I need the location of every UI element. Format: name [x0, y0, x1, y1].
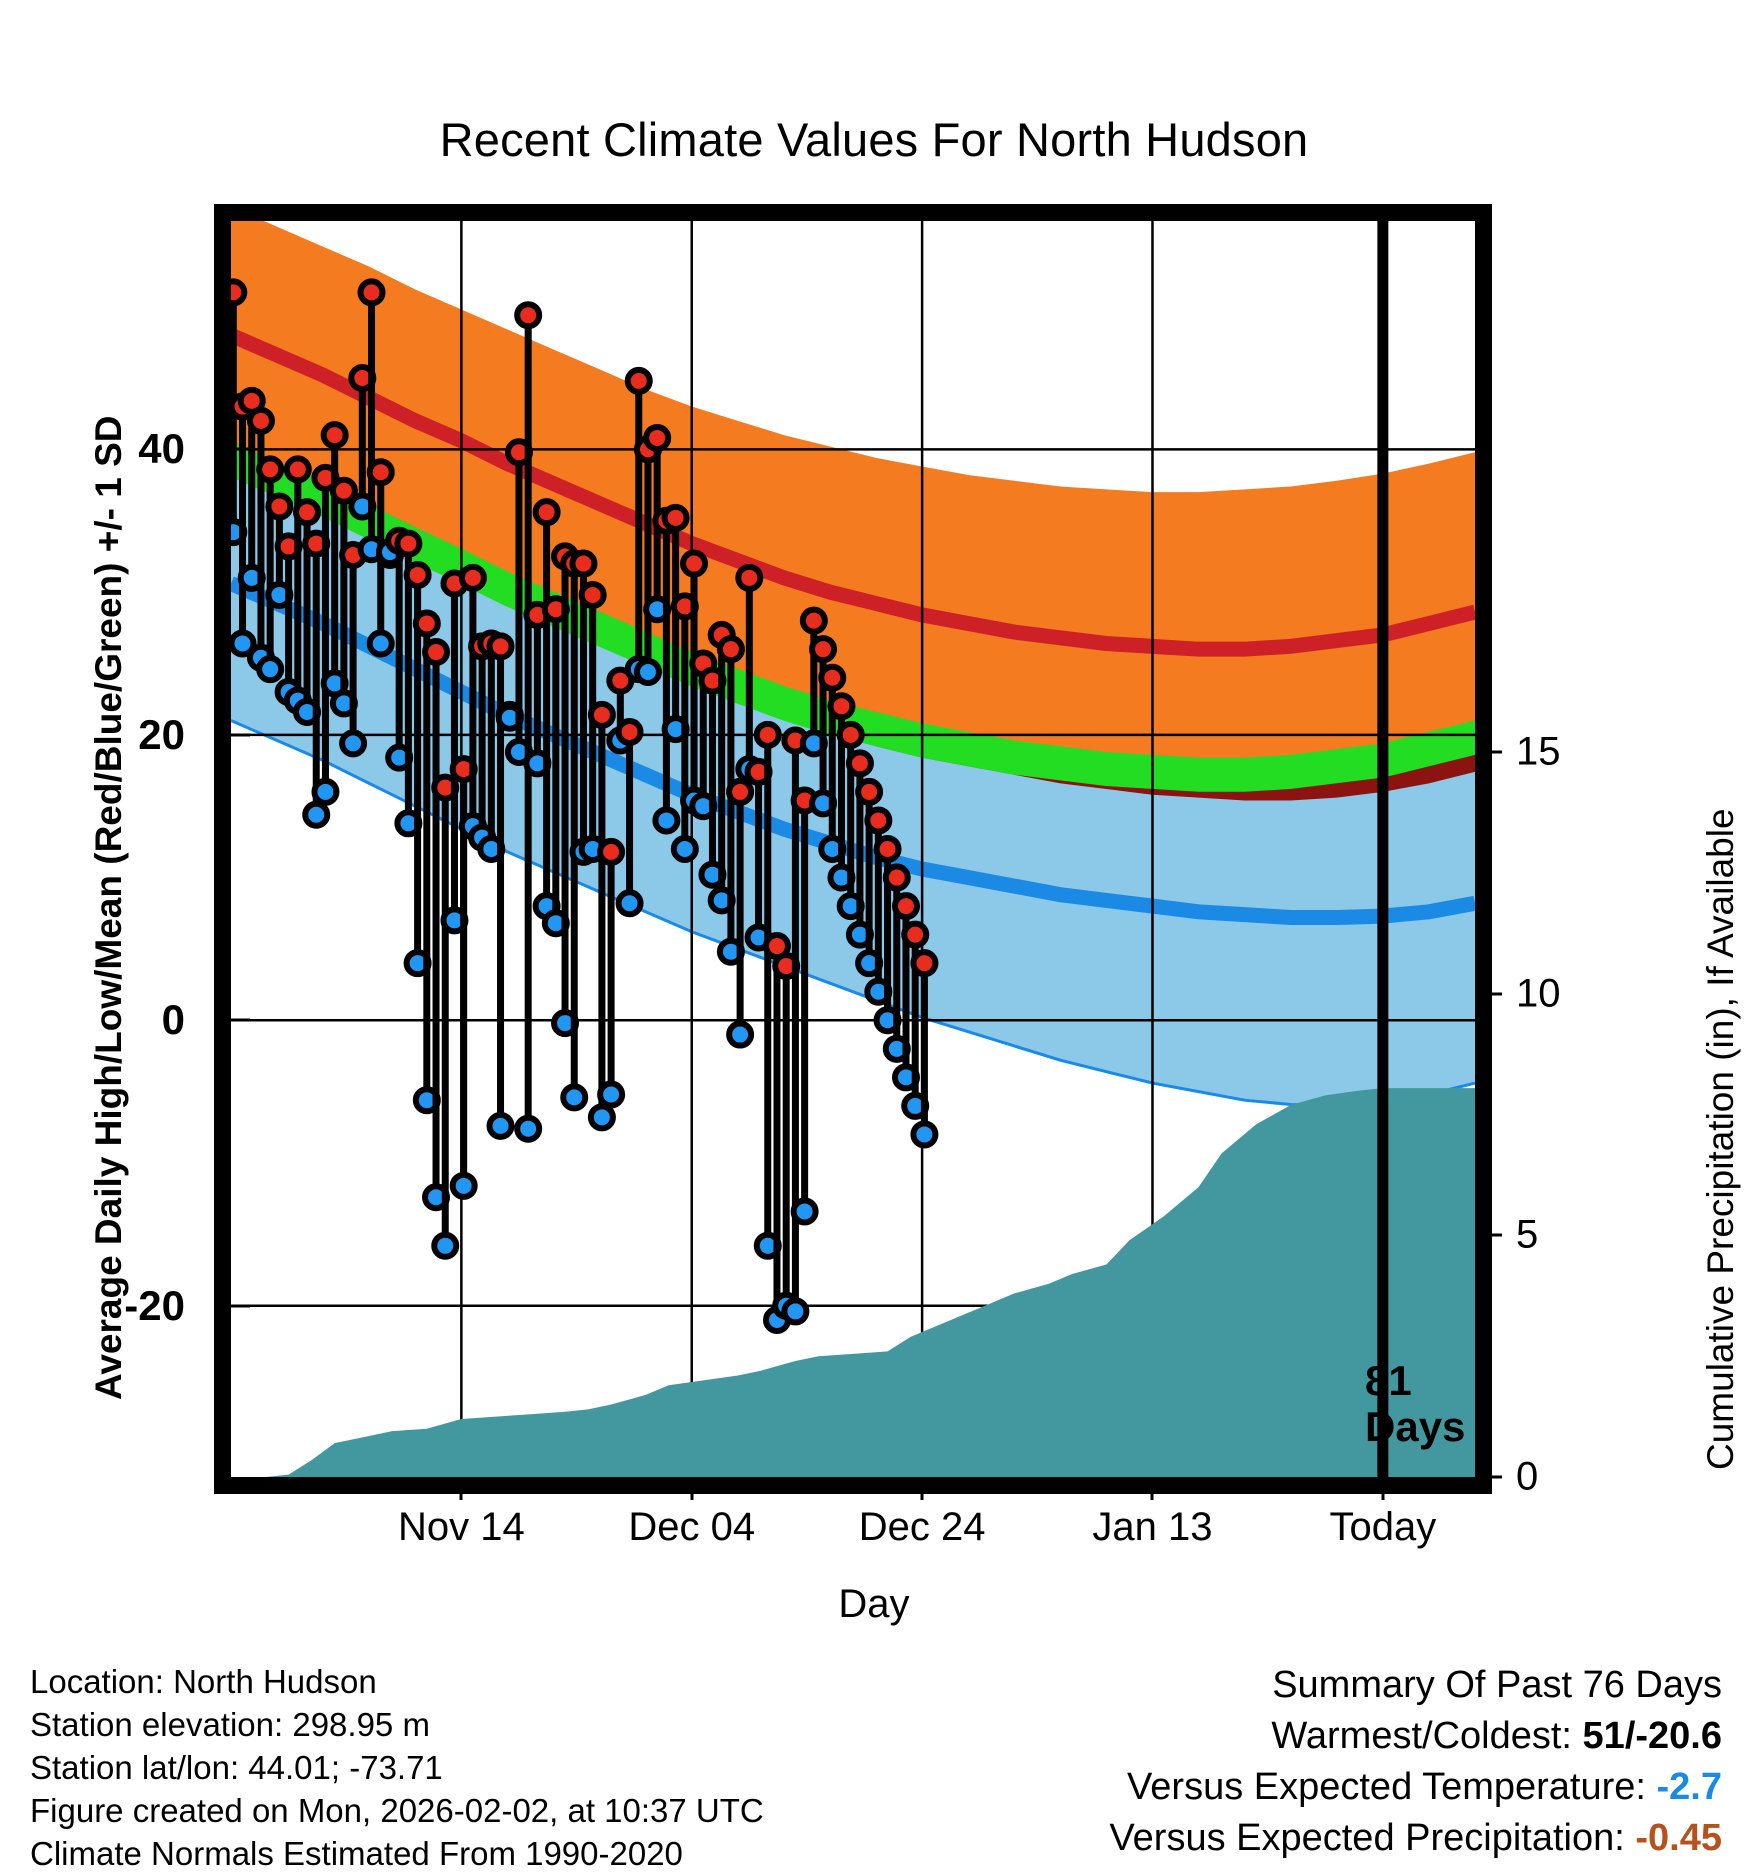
- x-axis-tick-mark: [460, 1478, 463, 1500]
- warmest-coldest-value: 51/-20.6: [1583, 1715, 1722, 1757]
- low-temp-marker: [370, 632, 392, 654]
- low-temp-marker: [674, 838, 696, 860]
- x-axis-tick-mark: [921, 1478, 924, 1500]
- low-temp-marker: [591, 1106, 613, 1128]
- high-temp-marker: [536, 501, 558, 523]
- low-temp-marker: [259, 658, 281, 680]
- y-axis-left-tick-label: 40: [138, 425, 185, 473]
- high-temp-marker: [268, 495, 290, 517]
- x-axis-tick-label: Nov 14: [398, 1505, 525, 1550]
- high-temp-marker: [370, 461, 392, 483]
- climate-chart-figure: Recent Climate Values For North Hudson A…: [0, 0, 1748, 1828]
- x-axis-tick-mark: [1381, 1478, 1384, 1500]
- high-temp-marker: [849, 752, 871, 774]
- high-temp-marker: [812, 638, 834, 660]
- high-temp-marker: [803, 610, 825, 632]
- y-axis-right-tick-label: 15: [1516, 730, 1561, 775]
- versus-temperature-label: Versus Expected Temperature:: [1127, 1766, 1646, 1808]
- y-axis-right-tick-label: 0: [1516, 1455, 1538, 1500]
- high-temp-marker: [416, 612, 438, 634]
- low-temp-marker: [784, 1300, 806, 1322]
- low-temp-marker: [913, 1123, 935, 1145]
- low-temp-marker: [794, 1201, 816, 1223]
- high-temp-marker: [904, 924, 926, 946]
- low-temp-marker: [729, 1024, 751, 1046]
- low-temp-marker: [600, 1083, 622, 1105]
- high-temp-marker: [729, 781, 751, 803]
- summary-block: Summary Of Past 76 Days Warmest/Coldest:…: [1109, 1660, 1722, 1864]
- info-normals: Climate Normals Estimated From 1990-2020: [30, 1832, 764, 1875]
- summary-versus-temperature: Versus Expected Temperature: -2.7: [1109, 1762, 1722, 1813]
- high-temp-marker: [361, 281, 383, 303]
- y-axis-right-tick-mark: [1480, 1476, 1502, 1479]
- y-axis-left-tick-mark: [228, 733, 250, 736]
- high-temp-marker: [425, 641, 447, 663]
- chart-canvas: [231, 221, 1475, 1477]
- days-badge-unit: Days: [1365, 1404, 1465, 1450]
- info-created: Figure created on Mon, 2026-02-02, at 10…: [30, 1789, 764, 1832]
- high-temp-marker: [296, 501, 318, 523]
- high-temp-marker: [600, 841, 622, 863]
- low-temp-marker: [619, 892, 641, 914]
- versus-temperature-value: -2.7: [1657, 1766, 1722, 1808]
- y-axis-right-title: Cumulative Precipitation (in), If Availa…: [1700, 808, 1742, 1470]
- warmest-coldest-label: Warmest/Coldest:: [1271, 1715, 1572, 1757]
- high-temp-marker: [757, 724, 779, 746]
- info-latlon: Station lat/lon: 44.01; -73.71: [30, 1746, 764, 1789]
- summary-warmest-coldest: Warmest/Coldest: 51/-20.6: [1109, 1711, 1722, 1762]
- low-temp-marker: [305, 804, 327, 826]
- high-temp-marker: [886, 867, 908, 889]
- high-temp-marker: [407, 564, 429, 586]
- high-temp-marker: [628, 370, 650, 392]
- high-temp-marker: [665, 507, 687, 529]
- y-axis-left-title: Average Daily High/Low/Mean (Red/Blue/Gr…: [88, 416, 130, 1401]
- low-temp-marker: [517, 1118, 539, 1140]
- precipitation-area: [231, 1088, 1475, 1477]
- low-temp-marker: [314, 781, 336, 803]
- y-axis-right-tick-label: 5: [1516, 1213, 1538, 1258]
- high-temp-marker: [397, 533, 419, 555]
- precip-area-shape: [231, 1088, 1475, 1477]
- low-temp-marker: [490, 1115, 512, 1137]
- low-temp-marker: [342, 732, 364, 754]
- high-temp-marker: [738, 567, 760, 589]
- info-location: Location: North Hudson: [30, 1660, 764, 1703]
- x-axis-tick-label: Dec 24: [859, 1505, 986, 1550]
- low-temp-marker: [655, 809, 677, 831]
- high-temp-marker: [720, 638, 742, 660]
- days-badge-count: 81: [1365, 1358, 1465, 1404]
- x-axis-tick-mark: [690, 1478, 693, 1500]
- days-badge: 81 Days: [1365, 1358, 1465, 1450]
- high-temp-marker: [858, 781, 880, 803]
- x-axis-tick-mark: [1151, 1478, 1154, 1500]
- high-temp-marker: [877, 838, 899, 860]
- y-axis-left-tick-mark: [228, 1019, 250, 1022]
- versus-precipitation-value: -0.45: [1635, 1817, 1722, 1859]
- y-axis-left-tick-label: 20: [138, 711, 185, 759]
- high-temp-marker: [324, 424, 346, 446]
- y-axis-right-tick-label: 10: [1516, 971, 1561, 1016]
- high-temp-marker: [867, 809, 889, 831]
- y-axis-left-tick-label: -20: [124, 1282, 185, 1330]
- low-temp-marker: [434, 1235, 456, 1257]
- high-temp-marker: [913, 952, 935, 974]
- versus-precipitation-label: Versus Expected Precipitation:: [1109, 1817, 1624, 1859]
- summary-versus-precipitation: Versus Expected Precipitation: -0.45: [1109, 1813, 1722, 1864]
- high-temp-marker: [646, 427, 668, 449]
- plot-area: [214, 204, 1492, 1494]
- high-temp-marker: [830, 695, 852, 717]
- high-temp-marker: [895, 895, 917, 917]
- high-temp-marker: [572, 553, 594, 575]
- low-temp-marker: [453, 1175, 475, 1197]
- high-temp-marker: [462, 567, 484, 589]
- high-temp-marker: [683, 553, 705, 575]
- summary-heading: Summary Of Past 76 Days: [1109, 1660, 1722, 1711]
- page-title: Recent Climate Values For North Hudson: [0, 112, 1748, 167]
- info-elevation: Station elevation: 298.95 m: [30, 1703, 764, 1746]
- high-temp-marker: [287, 458, 309, 480]
- high-temp-marker: [821, 667, 843, 689]
- high-temp-marker: [582, 584, 604, 606]
- y-axis-left-tick-mark: [228, 1304, 250, 1307]
- low-temp-marker: [637, 661, 659, 683]
- y-axis-right-tick-mark: [1480, 992, 1502, 995]
- high-temp-marker: [250, 410, 272, 432]
- station-info-block: Location: North Hudson Station elevation…: [30, 1660, 764, 1875]
- high-temp-marker: [259, 458, 281, 480]
- y-axis-right-tick-mark: [1480, 1234, 1502, 1237]
- low-temp-marker: [563, 1086, 585, 1108]
- x-axis-tick-label: Today: [1329, 1505, 1436, 1550]
- x-axis-tick-label: Dec 04: [628, 1505, 755, 1550]
- high-temp-marker: [619, 721, 641, 743]
- x-axis-title: Day: [0, 1582, 1748, 1627]
- y-axis-left-tick-mark: [228, 448, 250, 451]
- high-temp-marker: [231, 281, 244, 303]
- high-temp-marker: [591, 704, 613, 726]
- high-temp-marker: [517, 304, 539, 326]
- high-temp-marker: [840, 724, 862, 746]
- y-axis-right-tick-mark: [1480, 751, 1502, 754]
- y-axis-left-tick-label: 0: [162, 996, 185, 1044]
- x-axis-tick-label: Jan 13: [1092, 1505, 1212, 1550]
- high-temp-marker: [490, 635, 512, 657]
